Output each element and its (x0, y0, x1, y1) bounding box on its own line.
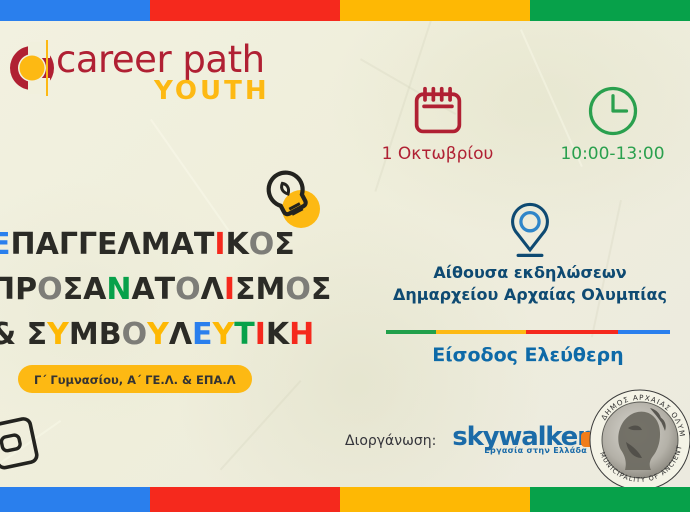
organizer-block: Διοργάνωση: skywalker Εργασία στην Ελλάδ… (345, 424, 592, 458)
glyph: Ι (214, 227, 225, 262)
glyph: Κ (225, 227, 248, 262)
glyph: Ε (192, 317, 213, 352)
glyph: Υ (147, 317, 169, 352)
audience-badge-label: Γ΄ Γυμνασίου, Α΄ ΓΕ.Λ. & ΕΠΑ.Λ (34, 373, 236, 387)
lightbulb-icon (258, 168, 328, 230)
glyph: Λ (169, 317, 192, 352)
time-block: 10:00-13:00 (545, 78, 680, 164)
bottom-color-bar (0, 487, 690, 512)
career-path-logo: career path YOUTH (6, 36, 306, 112)
calendar-icon (370, 78, 505, 144)
glyph: Η (289, 317, 314, 352)
glyph: ΜΒ (69, 317, 122, 352)
glyph: Ο (175, 272, 201, 307)
logo-wordmark: career path (56, 38, 265, 81)
color-segment-green (530, 487, 690, 512)
headline-line-3: & ΣΥΜΒΟΥΛΕΥΤΙΚΗ (0, 312, 290, 357)
logo-divider (46, 40, 48, 96)
event-poster: career path YOUTH ΕΠΑΓΓΕΛΜΑΤΙΚΟΣ ΠΡΟΣΑΝΑ… (0, 0, 690, 512)
glyph: Ι (255, 317, 266, 352)
map-pin-icon (380, 196, 680, 262)
books-icon (0, 412, 52, 474)
time-value: 10:00-13:00 (545, 144, 680, 164)
glyph: Ι (224, 272, 235, 307)
divider-segment-red (526, 330, 618, 334)
headline: ΕΠΑΓΓΕΛΜΑΤΙΚΟΣ ΠΡΟΣΑΝΑΤΟΛΙΣΜΟΣ & ΣΥΜΒΟΥΛ… (0, 222, 290, 357)
paper-crease (220, 380, 301, 470)
location-block: Αίθουσα εκδηλώσεων Δημαρχείου Αρχαίας Ολ… (380, 196, 680, 306)
glyph: Υ (213, 317, 235, 352)
location-line-1: Αίθουσα εκδηλώσεων (380, 262, 680, 284)
glyph: Ε (0, 227, 11, 262)
glyph: Ο (285, 272, 311, 307)
entry-label: Είσοδος Ελεύθερη (386, 344, 670, 366)
glyph: ΣΑ (63, 272, 107, 307)
divider-segment-blue (618, 330, 670, 334)
date-value: 1 Οκτωβρίου (370, 144, 505, 164)
location-line-2: Δημαρχείου Αρχαίας Ολυμπίας (380, 284, 680, 306)
glyph: Ο (37, 272, 63, 307)
glyph: Σ (274, 227, 295, 262)
glyph: Κ (266, 317, 289, 352)
glyph: & Σ (0, 317, 47, 352)
top-color-bar (0, 0, 690, 21)
divider-segment-green (386, 330, 436, 334)
color-segment-green (530, 0, 690, 21)
color-segment-yellow (340, 487, 530, 512)
glyph: Ο (122, 317, 148, 352)
headline-line-1: ΕΠΑΓΓΕΛΜΑΤΙΚΟΣ (0, 222, 290, 267)
glyph: Σ (311, 272, 332, 307)
glyph: ΣΜ (235, 272, 285, 307)
glyph: Ν (106, 272, 131, 307)
color-divider (386, 330, 670, 334)
career-path-circle-icon (6, 42, 58, 94)
color-segment-yellow (340, 0, 530, 21)
date-block: 1 Οκτωβρίου (370, 78, 505, 164)
glyph: ΠΑΓΓΕΛΜΑΤ (11, 227, 215, 262)
glyph: Τ (234, 317, 254, 352)
headline-line-2: ΠΡΟΣΑΝΑΤΟΛΙΣΜΟΣ (0, 267, 290, 312)
glyph: ΑΤ (131, 272, 175, 307)
clock-icon (545, 78, 680, 144)
color-segment-blue (0, 0, 150, 21)
organizer-label: Διοργάνωση: (345, 433, 436, 449)
glyph: Υ (47, 317, 69, 352)
audience-badge: Γ΄ Γυμνασίου, Α΄ ΓΕ.Λ. & ΕΠΑ.Λ (18, 365, 252, 393)
skywalker-tagline: Εργασία στην Ελλάδα (484, 446, 587, 455)
divider-segment-yellow (436, 330, 526, 334)
glyph: ΠΡ (0, 272, 37, 307)
color-segment-red (150, 487, 340, 512)
color-segment-red (150, 0, 340, 21)
logo-youth-label: YOUTH (154, 76, 270, 106)
color-segment-blue (0, 487, 150, 512)
glyph: Λ (201, 272, 224, 307)
skywalker-logo: skywalker Εργασία στην Ελλάδα (452, 424, 592, 458)
municipality-seal-icon: ΔΗΜΟΣ ΑΡΧΑΙΑΣ ΟΛΥΜΠΙΑΣ MUNICIPALITY OF A… (588, 388, 690, 492)
glyph: Ο (249, 227, 275, 262)
